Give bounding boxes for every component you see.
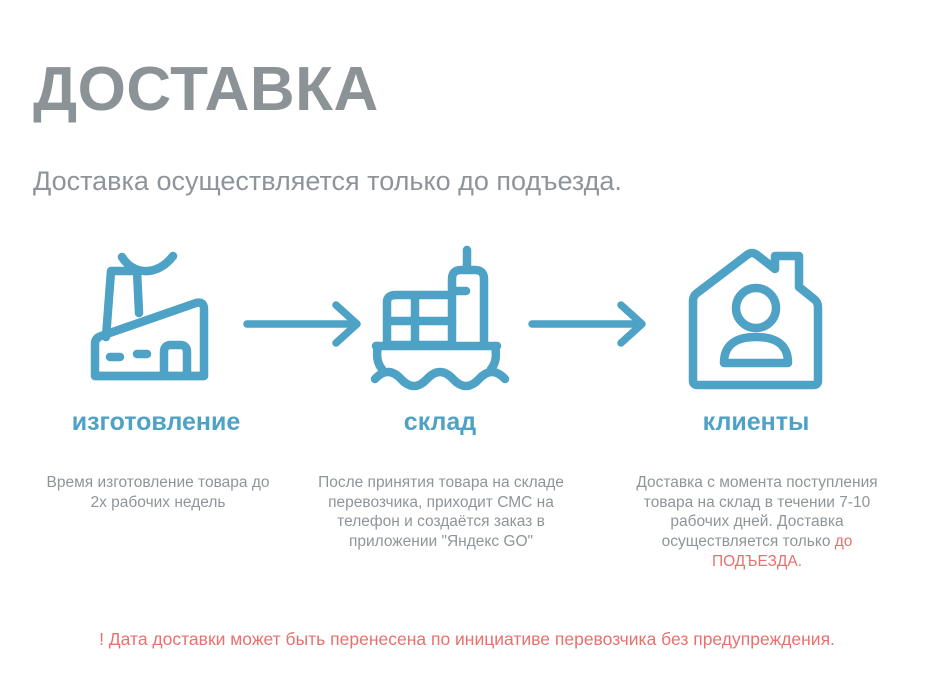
arrow-right-icon [528,301,658,347]
step-description-manufacturing: Время изготовление товара до 2х рабочих … [38,473,278,512]
step-label-clients: клиенты [620,407,892,437]
step-label-warehouse: склад [300,407,580,437]
factory-icon [81,245,231,395]
page-title: ДОСТАВКА [33,54,379,125]
slide-subtitle: Доставка осуществляется только до подъез… [33,163,653,200]
footer-warning-note: ! Дата доставки может быть перенесена по… [60,628,874,652]
delivery-flow-diagram [0,245,934,395]
arrow-right-icon [243,301,373,347]
cargo-ship-icon [365,245,515,395]
delivery-infographic-slide: ДОСТАВКА Доставка осуществляется только … [0,0,934,700]
house-client-icon [681,245,831,395]
step-description-warehouse: После принятия товара на складе перевозч… [305,473,577,552]
step-label-manufacturing: изготовление [0,407,312,437]
step-description-clients: Доставка с момента поступления товара на… [617,473,897,571]
